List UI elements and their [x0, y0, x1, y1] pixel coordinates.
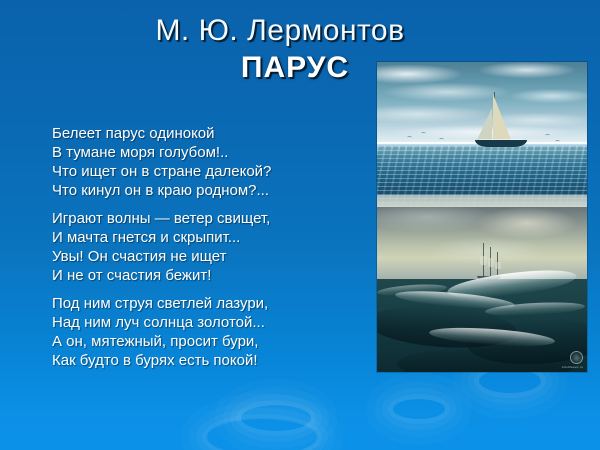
image-watermark: ArtsClassic.ru: [562, 351, 583, 369]
poem-line: И не от счастия бежит!: [52, 266, 370, 285]
watermark-text: ArtsClassic.ru: [562, 365, 583, 369]
poem-line: В тумане моря голубом!..: [52, 143, 370, 162]
illustration-stack: ArtsClassic.ru: [377, 62, 587, 372]
boat-hull: [475, 140, 527, 147]
poem-stanza: Под ним струя светлей лазури, Над ним лу…: [52, 294, 370, 370]
bird-icon: [421, 132, 426, 135]
bird-icon: [439, 138, 444, 141]
poem-line: Играют волны — ветер свищет,: [52, 209, 370, 228]
poem-line: Как будто в бурях есть покой!: [52, 351, 370, 370]
poem-line: Под ним струя светлей лазури,: [52, 294, 370, 313]
sail: [488, 258, 494, 267]
ripple-circle: [392, 398, 446, 420]
bird-icon: [407, 136, 412, 139]
poem-title: ПАРУС: [0, 50, 600, 86]
sailboat-icon: [473, 92, 531, 150]
poem-line: А он, мятежный, просит бури,: [52, 332, 370, 351]
poem-stanza: Играют волны — ветер свищет, И мачта гне…: [52, 209, 370, 285]
poem-line: И мачта гнется и скрыпит...: [52, 228, 370, 247]
bird-icon: [545, 134, 550, 137]
slide-title: М. Ю. Лермонтов ПАРУС: [0, 12, 600, 86]
jib-sail: [477, 108, 492, 140]
poem-stanza: Белеет парус одинокой В тумане моря голу…: [52, 124, 370, 200]
sail: [495, 262, 501, 269]
poem-line: Увы! Он счастия не ищет: [52, 247, 370, 266]
foreground-shore: [377, 195, 587, 207]
ripple-circle: [240, 404, 312, 432]
poem-line: Белеет парус одинокой: [52, 124, 370, 143]
presentation-slide: М. Ю. Лермонтов ПАРУС Белеет парус одино…: [0, 0, 600, 450]
bird-icon: [555, 140, 560, 143]
author-name: М. Ю. Лермонтов: [0, 12, 600, 50]
watermark-seal-icon: [570, 351, 583, 364]
mainsail: [493, 94, 511, 140]
sail: [480, 256, 487, 265]
stormy-sea-painting: ArtsClassic.ru: [377, 207, 587, 372]
poem-line: Над ним луч солнца золотой...: [52, 313, 370, 332]
poem-line: Что кинул он в краю родном?...: [52, 181, 370, 200]
ripple-circle: [206, 418, 318, 450]
poem-line: Что ищет он в стране далекой?: [52, 162, 370, 181]
poem-body: Белеет парус одинокой В тумане моря голу…: [52, 124, 370, 370]
